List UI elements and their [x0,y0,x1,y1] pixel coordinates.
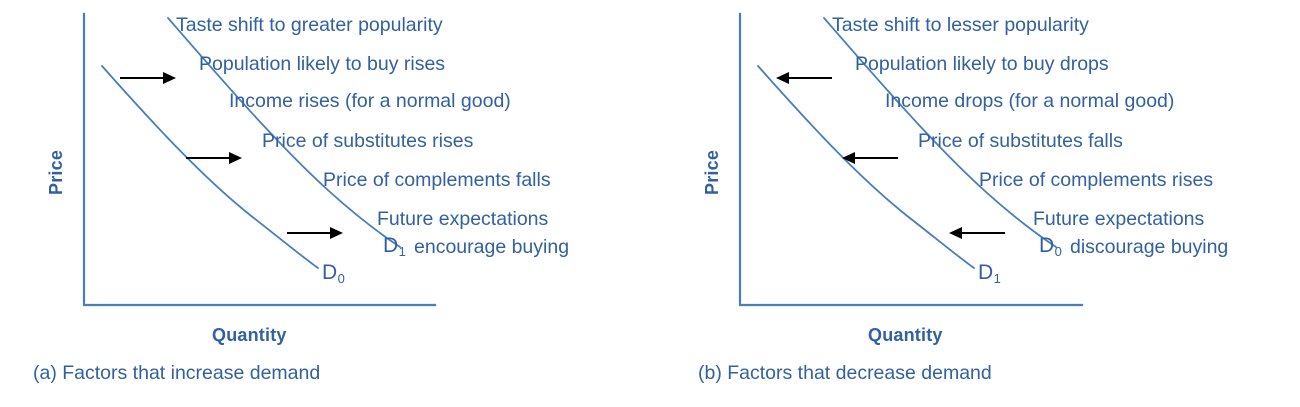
shift-arrow-1 [776,72,832,84]
panel-decrease-demand: Price Quantity Taste shift to lesser pop… [650,0,1300,407]
shift-arrow-3 [287,227,343,239]
curve-label-inner-subscript: 0 [338,271,345,286]
shift-arrow-2 [842,152,898,164]
x-axis-title: Quantity [868,325,943,346]
curve-label-outer-subscript: 0 [1055,244,1062,259]
curve-label-outer-letter: D [383,234,398,257]
factor-line-5: Price of complements rises [979,171,1213,191]
curve-label-inner: D0 [322,262,344,283]
panel-caption: (b) Factors that decrease demand [698,364,992,384]
factor-line-4: Price of substitutes rises [262,132,473,152]
factor-line-6: Future expectations [377,210,548,230]
shift-arrow-3 [949,227,1005,239]
panel-increase-demand: Price Quantity Taste shift to greater po… [0,0,650,407]
factor-line-7: encourage buying [414,238,569,258]
panel-caption: (a) Factors that increase demand [33,364,320,384]
curve-label-outer-subscript: 1 [399,244,406,259]
curve-label-outer: D1 [383,235,405,256]
factor-line-2: Population likely to buy rises [199,55,445,75]
x-axis-title: Quantity [212,325,287,346]
curve-label-inner-letter: D [978,261,993,284]
factor-line-1: Taste shift to greater popularity [176,16,443,36]
factor-line-2: Population likely to buy drops [855,55,1109,75]
factor-line-6: Future expectations [1033,210,1204,230]
factor-line-3: Income drops (for a normal good) [885,92,1174,112]
curve-label-inner-subscript: 1 [994,271,1001,286]
curve-label-inner-letter: D [322,261,337,284]
y-axis-title: Price [702,150,723,195]
curve-label-outer-letter: D [1039,234,1054,257]
factor-line-4: Price of substitutes falls [918,132,1123,152]
shift-arrow-1 [120,72,176,84]
curve-label-inner: D1 [978,262,1000,283]
factor-line-1: Taste shift to lesser popularity [832,16,1089,36]
shift-arrow-2 [186,152,242,164]
y-axis-title: Price [46,150,67,195]
factor-line-3: Income rises (for a normal good) [229,92,511,112]
curve-label-outer: D0 [1039,235,1061,256]
factor-line-7: discourage buying [1070,238,1228,258]
demand-shift-figure: Price Quantity Taste shift to greater po… [0,0,1300,407]
factor-line-5: Price of complements falls [323,171,551,191]
